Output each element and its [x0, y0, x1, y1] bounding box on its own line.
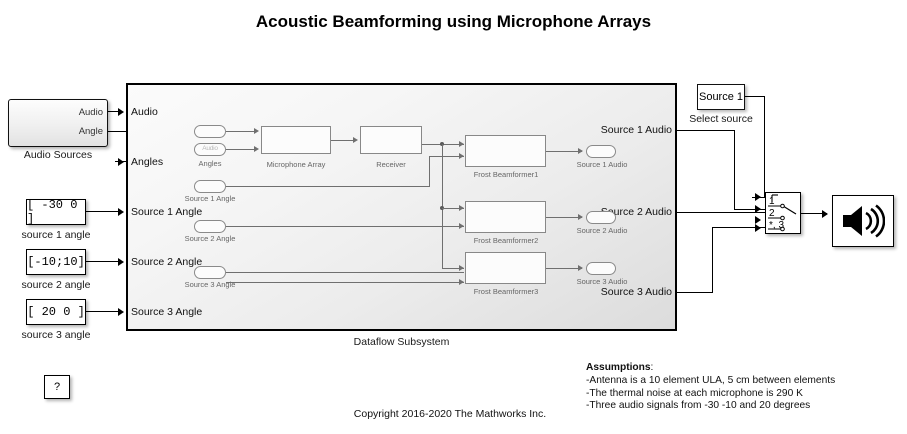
wire-src1angle-v	[429, 156, 430, 187]
frost-beamformer-1-caption: Frost Beamformer1	[463, 170, 549, 179]
wire-select-v	[764, 96, 765, 198]
arrow-mic-in2	[254, 146, 259, 152]
simulink-canvas: Acoustic Beamforming using Microphone Ar…	[0, 0, 907, 434]
microphone-array-caption: Microphone Array	[256, 160, 336, 169]
assumptions-line-2: -The thermal noise at each microphone is…	[586, 388, 901, 401]
arrow-fb1-in1	[459, 141, 464, 147]
wire-fb2-out	[546, 217, 582, 218]
subsystem-outport-source-3-audio: Source 3 Audio	[582, 286, 672, 298]
inner-source-3-angle[interactable]	[194, 266, 226, 279]
wire-out2-h	[677, 212, 765, 213]
wire-src3angle-h	[226, 272, 464, 273]
source-3-angle-value: [ 20 0 ]	[27, 305, 85, 319]
arrow-fb3-in1	[459, 265, 464, 271]
assumptions-heading: Assumptions	[586, 362, 651, 373]
source-1-angle-constant[interactable]: [ -30 0 ]	[26, 199, 86, 225]
assumptions-heading-colon: :	[651, 362, 654, 373]
arrow-sink3-in	[578, 265, 583, 271]
assumptions-annotation: Assumptions: -Antenna is a 10 element UL…	[586, 362, 901, 413]
arrow-fb2-in1	[459, 205, 464, 211]
audio-sources-port-angle: Angle	[79, 126, 103, 137]
inner-source-1-angle-caption: Source 1 Angle	[174, 194, 246, 203]
frost-beamformer-1-block[interactable]	[465, 135, 546, 167]
subsystem-outport-source-1-audio: Source 1 Audio	[582, 124, 672, 136]
wire-const3	[86, 311, 121, 312]
select-source-caption: Select source	[669, 113, 773, 125]
inner-source-1-angle[interactable]	[194, 180, 226, 193]
wire-out1-v	[734, 130, 735, 210]
inner-source-2-angle-caption: Source 2 Angle	[174, 234, 246, 243]
microphone-array-block[interactable]	[261, 126, 331, 154]
source-1-angle-value: [ -30 0 ]	[27, 198, 85, 226]
arrow-sink1-in	[578, 148, 583, 154]
receiver-caption: Receiver	[358, 160, 424, 169]
arrow-audio-in	[118, 108, 124, 116]
arrow-fb1-in2	[459, 153, 464, 159]
wire-audio-to-mic	[226, 149, 257, 150]
multiport-switch-block[interactable]: 1 2 *, 3	[765, 192, 801, 234]
frost-beamformer-2-block[interactable]	[465, 201, 546, 233]
arrow-receiver-in	[353, 137, 358, 143]
arrow-src2-in	[118, 258, 124, 266]
select-source-value: Source 1	[699, 91, 743, 103]
inner-source-angles-caption: Angles	[178, 159, 242, 168]
inner-sink-3-caption: Source 3 Audio	[570, 277, 634, 286]
source-3-angle-constant[interactable]: [ 20 0 ]	[26, 299, 86, 325]
page-title: Acoustic Beamforming using Microphone Ar…	[0, 12, 907, 32]
switch-lever-icon	[766, 193, 802, 235]
inner-sink-1-caption: Source 1 Audio	[570, 160, 634, 169]
audio-sources-block[interactable]: Audio Angle	[8, 99, 108, 147]
arrow-src1-in	[118, 208, 124, 216]
inner-sink-source-3-audio[interactable]	[586, 262, 616, 275]
inner-sink-source-1-audio[interactable]	[586, 145, 616, 158]
arrow-angles-in	[118, 158, 124, 166]
speaker-icon	[841, 204, 885, 238]
dataflow-subsystem-caption: Dataflow Subsystem	[126, 336, 677, 348]
inner-sink-2-caption: Source 2 Audio	[570, 226, 634, 235]
inner-source-audio[interactable]: Audio	[194, 143, 226, 156]
frost-beamformer-3-caption: Frost Beamformer3	[463, 287, 549, 296]
source-1-angle-caption: source 1 angle	[6, 229, 106, 241]
assumptions-line-3: -Three audio signals from -30 -10 and 20…	[586, 400, 901, 413]
subsystem-inport-source-3-angle: Source 3 Angle	[131, 306, 202, 318]
select-source-block[interactable]: Source 1	[697, 84, 745, 110]
wire-src1angle-h	[226, 186, 430, 187]
subsystem-inport-angles: Angles	[131, 156, 163, 168]
wire-const1	[86, 211, 121, 212]
source-3-angle-caption: source 3 angle	[6, 329, 106, 341]
wire-src2angle-h	[226, 226, 464, 227]
wire-out1-h1	[677, 130, 735, 131]
receiver-block[interactable]	[360, 126, 422, 154]
arrow-speaker-in	[822, 210, 828, 218]
arrow-src3-in	[118, 308, 124, 316]
inner-source-2-angle[interactable]	[194, 220, 226, 233]
wire-src3angle-h2	[226, 282, 464, 283]
audio-device-writer-block[interactable]	[832, 195, 894, 247]
inner-source-audio-text: Audio	[195, 145, 225, 152]
wire-select-h	[745, 96, 765, 97]
arrow-switch-in3	[755, 224, 761, 232]
assumptions-line-1: -Antenna is a 10 element ULA, 5 cm betwe…	[586, 375, 901, 388]
subsystem-inport-source-1-angle: Source 1 Angle	[131, 206, 202, 218]
wire-const2	[86, 261, 121, 262]
wire-out3-v	[712, 227, 713, 293]
source-2-angle-caption: source 2 angle	[6, 279, 106, 291]
help-block[interactable]: ?	[44, 375, 70, 399]
source-2-angle-value: [-10;10]	[27, 255, 85, 269]
frost-beamformer-2-caption: Frost Beamformer2	[463, 236, 549, 245]
arrow-mic-in1	[254, 128, 259, 134]
wire-out3-h1	[677, 292, 713, 293]
frost-beamformer-3-block[interactable]	[465, 252, 546, 284]
inner-sink-source-2-audio[interactable]	[586, 211, 616, 224]
arrow-fb2-in2	[459, 223, 464, 229]
wire-fb3-out	[546, 268, 582, 269]
audio-sources-port-audio: Audio	[79, 107, 103, 118]
audio-sources-caption: Audio Sources	[0, 149, 116, 161]
assumptions-heading-row: Assumptions:	[586, 362, 901, 375]
help-label: ?	[54, 381, 60, 393]
subsystem-inport-source-2-angle: Source 2 Angle	[131, 256, 202, 268]
wire-fb1-out	[546, 151, 582, 152]
wire-angles-to-mic	[226, 131, 257, 132]
arrow-switch-ctrl	[755, 193, 761, 201]
source-2-angle-constant[interactable]: [-10;10]	[26, 249, 86, 275]
subsystem-inport-audio: Audio	[131, 106, 158, 118]
inner-source-angles-top[interactable]	[194, 125, 226, 138]
arrow-sink2-in	[578, 214, 583, 220]
